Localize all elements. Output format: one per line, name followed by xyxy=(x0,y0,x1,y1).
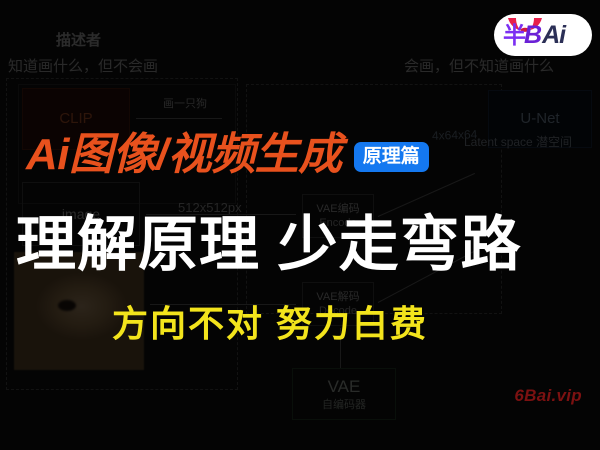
brand-logo[interactable]: 半 B Ai xyxy=(494,14,592,56)
diagram-label-clip: CLIP xyxy=(59,109,92,129)
logo-wordmark: 半 B Ai xyxy=(503,23,585,51)
logo-char-ai: Ai xyxy=(542,23,565,48)
headline-primary-row: Ai图像/视频生成 原理篇 xyxy=(26,133,429,177)
diagram-latent-region xyxy=(246,84,502,314)
diagram-label-latent-dims: 4x64x64 xyxy=(432,127,478,144)
logo-char-b: B xyxy=(524,23,541,48)
diagram-title: 描述者 xyxy=(56,32,101,51)
diagram-caption-right: 会画，但不知道画什么 xyxy=(404,58,554,77)
diagram-box-vae: VAE 自编码器 xyxy=(292,368,396,420)
logo-char-ban: 半 xyxy=(503,25,525,48)
diagram-label-latent-space: Latent space 潜空间 xyxy=(464,135,572,150)
diagram-label-prompt: 画一只狗 xyxy=(163,98,207,112)
diagram-label-vae-title: VAE xyxy=(328,376,361,398)
diagram-caption-left: 知道画什么，但不会画 xyxy=(8,58,158,77)
headline-tertiary: 方向不对 努力白费 xyxy=(112,306,428,342)
headline-secondary: 理解原理 少走弯路 xyxy=(16,215,522,275)
diagram-label-unet: U-Net xyxy=(520,109,559,129)
dog-nose xyxy=(58,300,76,311)
diagram-label-vae-subtitle: 自编码器 xyxy=(322,398,366,412)
diagram-label-vae-decode-cn: VAE解码 xyxy=(316,290,359,304)
logo-inner: 半 B Ai xyxy=(501,18,585,52)
cover-image: 描述者 知道画什么，但不会画 会画，但不知道画什么 CLIP 画一只狗 imag… xyxy=(0,0,600,450)
site-watermark: 6Bai.vip xyxy=(514,386,582,406)
headline-primary: Ai图像/视频生成 xyxy=(26,133,342,177)
badge-principles: 原理篇 xyxy=(354,142,429,172)
connector-clip-to-unet xyxy=(136,118,222,119)
